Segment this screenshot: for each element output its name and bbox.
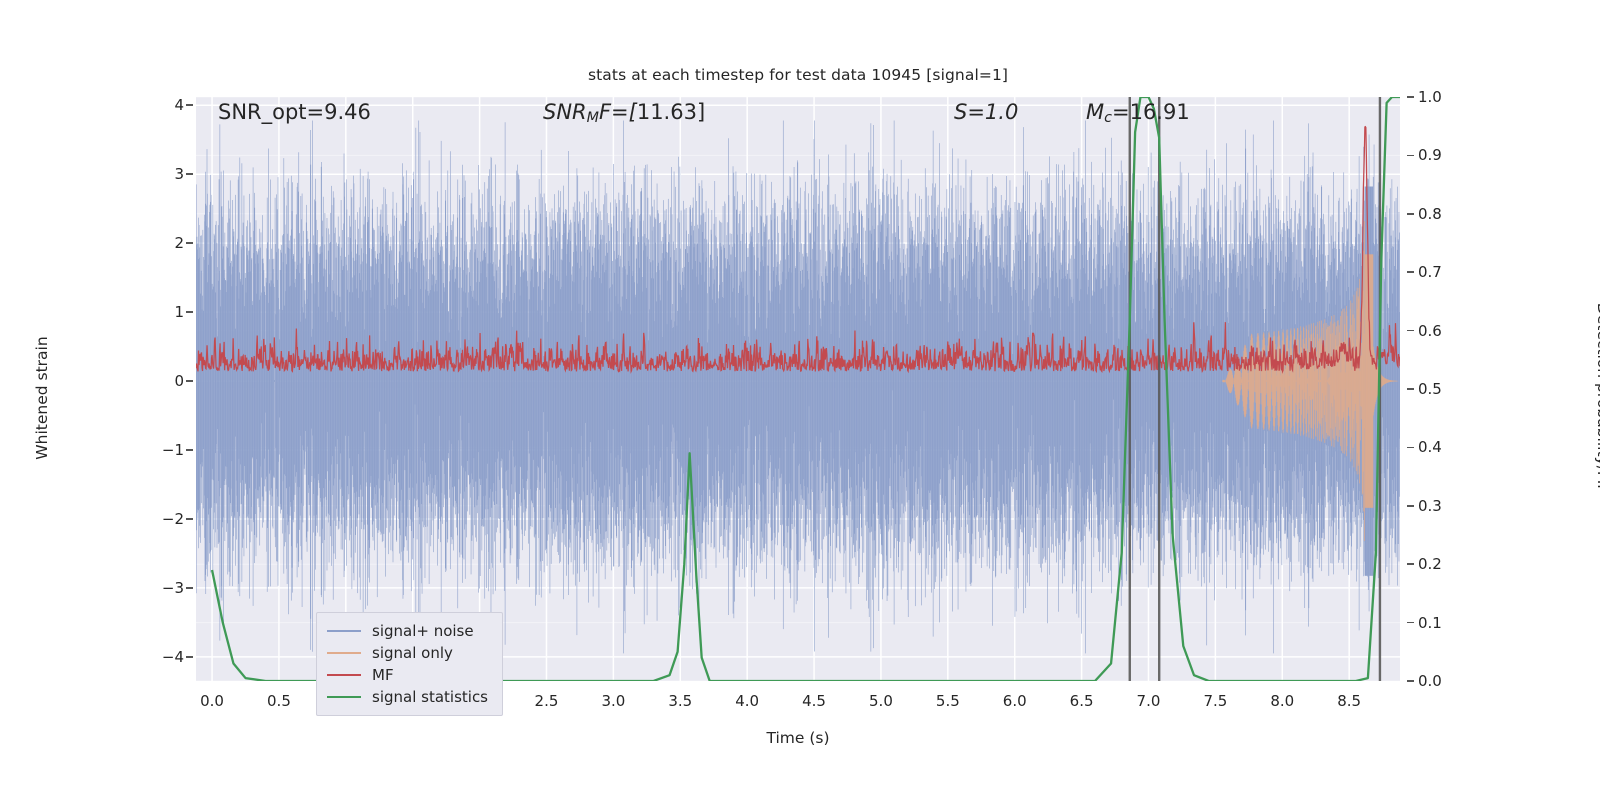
y-tick-label-left-6: −2 [162, 510, 184, 528]
page-title: stats at each timestep for test data 109… [196, 66, 1400, 84]
figure-canvas: stats at each timestep for test data 109… [0, 0, 1600, 800]
y-tick-mark-right-4 [1407, 330, 1414, 332]
x-tick-label-13: 6.5 [1070, 692, 1094, 710]
y-tick-mark-left-2 [186, 242, 193, 244]
y-tick-mark-left-1 [186, 173, 193, 175]
y-tick-label-right-9: 0.1 [1418, 614, 1442, 632]
y-tick-label-right-7: 0.3 [1418, 497, 1442, 515]
x-tick-label-16: 8.0 [1270, 692, 1294, 710]
y-tick-mark-right-9 [1407, 622, 1414, 624]
series-signal-noise [196, 120, 1400, 653]
x-tick-label-0: 0.0 [200, 692, 224, 710]
y-tick-label-right-0: 1.0 [1418, 88, 1442, 106]
x-tick-label-10: 5.0 [869, 692, 893, 710]
y-tick-mark-left-3 [186, 311, 193, 313]
y-tick-label-left-7: −3 [162, 579, 184, 597]
x-tick-label-14: 7.0 [1137, 692, 1161, 710]
annotation-mc-value: 16.91 [1130, 100, 1190, 124]
annotation-snr-mf-mid: F=[ [599, 100, 637, 124]
annotation-snr-mf-sub: M [587, 110, 599, 126]
x-axis-label: Time (s) [196, 729, 1400, 747]
y-tick-mark-left-4 [186, 380, 193, 382]
y-tick-mark-right-6 [1407, 447, 1414, 449]
x-tick-label-5: 2.5 [535, 692, 559, 710]
y-tick-mark-right-7 [1407, 505, 1414, 507]
y-tick-label-left-3: 1 [174, 303, 184, 321]
legend-label-signal-noise: signal+ noise [372, 622, 474, 640]
x-tick-label-9: 4.5 [802, 692, 826, 710]
x-tick-label-12: 6.0 [1003, 692, 1027, 710]
y-tick-label-left-1: 3 [174, 165, 184, 183]
y-tick-mark-left-7 [186, 587, 193, 589]
y-tick-mark-right-1 [1407, 155, 1414, 157]
annotation-s-text: S=1.0 [954, 100, 1018, 124]
y-tick-label-right-10: 0.0 [1418, 672, 1442, 690]
y-tick-label-right-5: 0.5 [1418, 380, 1442, 398]
y-tick-label-left-5: −1 [162, 441, 184, 459]
annotation-snr-mf-suffix: ] [697, 100, 705, 124]
legend-swatch-signal-only [327, 652, 361, 654]
y-tick-label-right-3: 0.7 [1418, 263, 1442, 281]
x-tick-label-17: 8.5 [1337, 692, 1361, 710]
legend-item-signal-statistics[interactable]: signal statistics [327, 686, 488, 708]
y-tick-label-right-6: 0.4 [1418, 438, 1442, 456]
y-tick-label-right-1: 0.9 [1418, 146, 1442, 164]
x-tick-label-7: 3.5 [668, 692, 692, 710]
y-tick-label-right-2: 0.8 [1418, 205, 1442, 223]
annotation-mc-prefix: M [1086, 100, 1104, 124]
annotation-snr-opt-text: SNR_opt=9.46 [218, 100, 371, 124]
annotation-s: S=1.0 [954, 100, 1018, 124]
y-axis-label-left: Whitened strain [33, 248, 51, 548]
x-tick-label-1: 0.5 [267, 692, 291, 710]
y-tick-mark-left-6 [186, 518, 193, 520]
annotation-mc-sub: c [1104, 110, 1112, 126]
legend-item-signal-only[interactable]: signal only [327, 642, 488, 664]
y-axis-label-right: Detection probability/MF [1594, 248, 1600, 548]
annotation-snr-mf-value: 11.63 [637, 100, 697, 124]
annotation-snr-mf-prefix: SNR [543, 100, 587, 124]
legend-swatch-signal-noise [327, 630, 361, 632]
annotation-snr-mf: SNRMF=[11.63] [543, 100, 705, 126]
legend-swatch-matched-filter [327, 674, 361, 676]
legend[interactable]: signal+ noisesignal onlyMFsignal statist… [316, 612, 503, 716]
y-tick-label-right-4: 0.6 [1418, 322, 1442, 340]
annotation-mc-mid: = [1112, 100, 1130, 124]
plot-area[interactable] [196, 97, 1400, 681]
y-tick-label-left-4: 0 [174, 372, 184, 390]
y-tick-mark-right-5 [1407, 388, 1414, 390]
x-tick-label-8: 4.0 [735, 692, 759, 710]
legend-item-matched-filter[interactable]: MF [327, 664, 488, 686]
y-tick-mark-left-8 [186, 656, 193, 658]
y-tick-mark-left-0 [186, 104, 193, 106]
legend-swatch-signal-statistics [327, 696, 361, 698]
y-tick-mark-right-8 [1407, 563, 1414, 565]
x-tick-label-15: 7.5 [1203, 692, 1227, 710]
x-tick-label-6: 3.0 [601, 692, 625, 710]
x-tick-label-11: 5.5 [936, 692, 960, 710]
annotation-mc: Mc=16.91 [1086, 100, 1190, 126]
annotation-snr-opt: SNR_opt=9.46 [218, 100, 371, 124]
y-tick-mark-left-5 [186, 449, 193, 451]
y-tick-mark-right-0 [1407, 96, 1414, 98]
y-tick-label-left-0: 4 [174, 96, 184, 114]
y-tick-label-right-8: 0.2 [1418, 555, 1442, 573]
legend-label-matched-filter: MF [372, 666, 394, 684]
y-tick-label-left-2: 2 [174, 234, 184, 252]
y-tick-label-left-8: −4 [162, 648, 184, 666]
legend-label-signal-only: signal only [372, 644, 453, 662]
y-tick-mark-right-10 [1407, 680, 1414, 682]
y-tick-mark-right-3 [1407, 271, 1414, 273]
y-tick-mark-right-2 [1407, 213, 1414, 215]
legend-item-signal-noise[interactable]: signal+ noise [327, 620, 488, 642]
plot-svg [196, 97, 1400, 681]
legend-label-signal-statistics: signal statistics [372, 688, 488, 706]
